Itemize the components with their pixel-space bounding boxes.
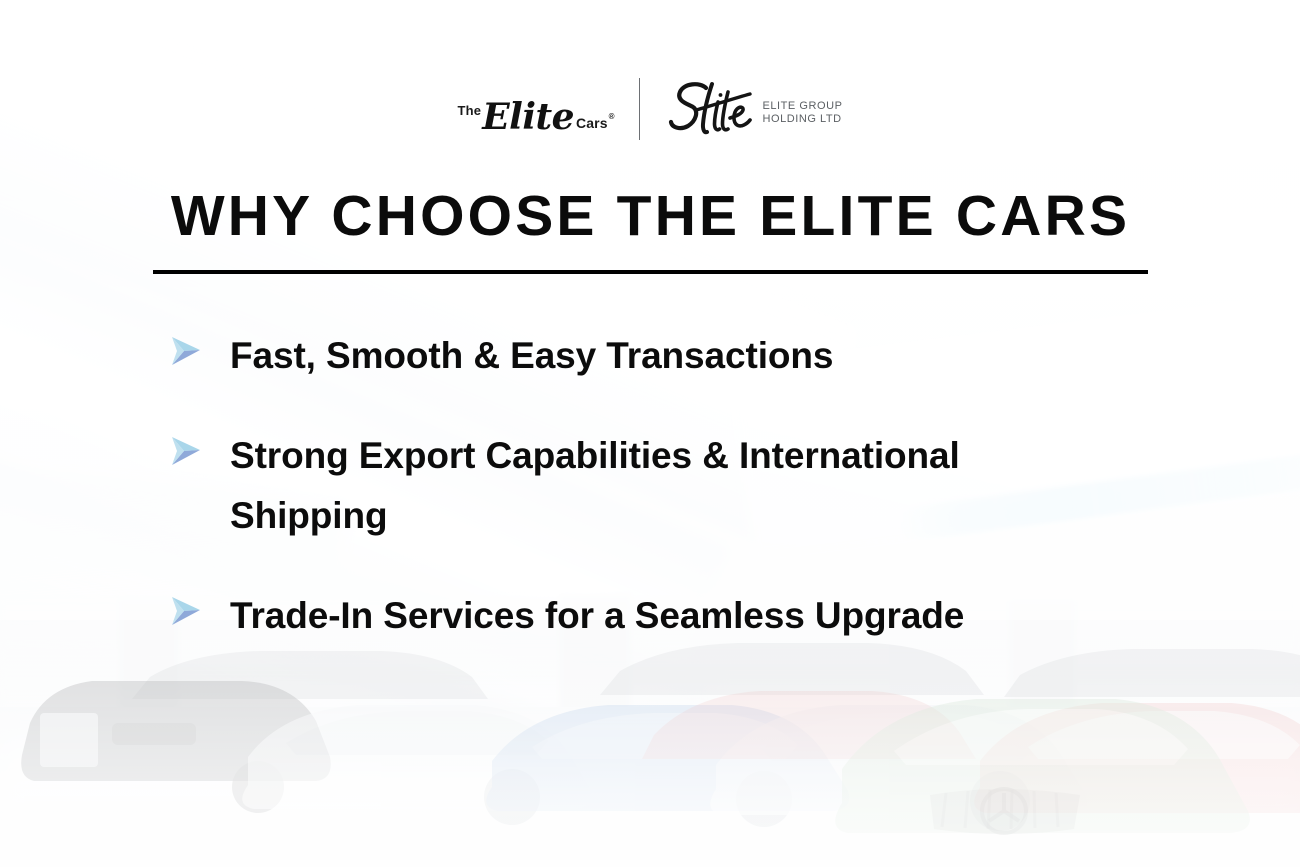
logo-elite-group-holding: ELITE GROUP HOLDING LTD bbox=[640, 78, 842, 140]
arrow-bullet-icon bbox=[168, 594, 202, 628]
slide-root: The Elite Cars ® bbox=[0, 0, 1300, 867]
logo-the-elite-cars: The Elite Cars ® bbox=[458, 85, 640, 133]
arrow-bullet-icon bbox=[168, 434, 202, 468]
logo-bar: The Elite Cars ® bbox=[0, 74, 1300, 144]
list-item: Strong Export Capabilities & Internation… bbox=[168, 426, 1168, 546]
benefits-list: Fast, Smooth & Easy Transactions Strong … bbox=[168, 326, 1168, 646]
logo-script-elite-handwritten bbox=[666, 80, 758, 138]
page-title: WHY CHOOSE THE ELITE CARS bbox=[153, 186, 1148, 246]
list-item: Trade-In Services for a Seamless Upgrade bbox=[168, 586, 1168, 646]
slide-content: The Elite Cars ® bbox=[0, 0, 1300, 867]
logo-company-name: ELITE GROUP HOLDING LTD bbox=[762, 100, 842, 126]
list-item: Fast, Smooth & Easy Transactions bbox=[168, 326, 1168, 386]
logo-suffix-cars: Cars bbox=[576, 116, 608, 130]
list-item-label: Trade-In Services for a Seamless Upgrade bbox=[230, 586, 964, 646]
list-item-label: Fast, Smooth & Easy Transactions bbox=[230, 326, 833, 386]
registered-trademark-icon: ® bbox=[609, 112, 615, 121]
list-item-label: Strong Export Capabilities & Internation… bbox=[230, 426, 1030, 546]
logo-script-elite: Elite bbox=[482, 99, 574, 135]
logo-company-line2: HOLDING LTD bbox=[762, 113, 842, 126]
logo-prefix-the: The bbox=[458, 104, 482, 117]
title-underline-rule bbox=[153, 270, 1148, 274]
arrow-bullet-icon bbox=[168, 334, 202, 368]
logo-company-line1: ELITE GROUP bbox=[762, 100, 842, 113]
